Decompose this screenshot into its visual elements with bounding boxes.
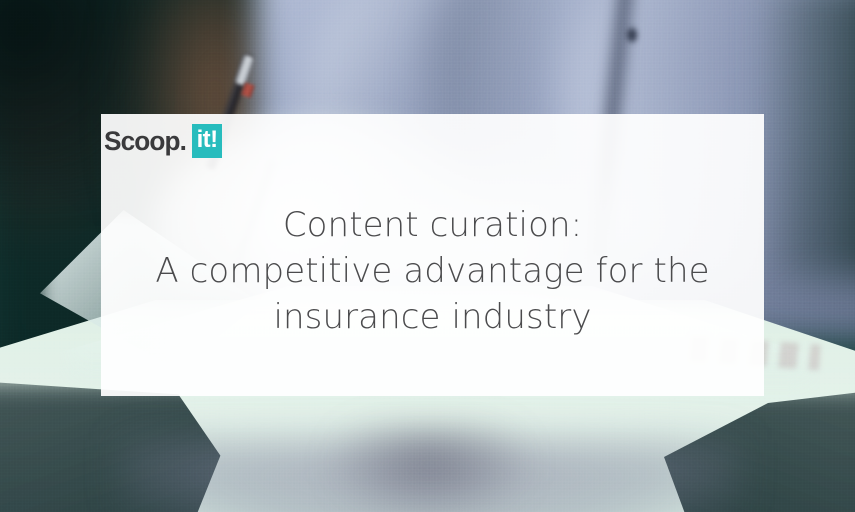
right-dark-layer xyxy=(770,0,855,280)
headline-line-2: A competitive advantage for the xyxy=(101,248,764,294)
banner-headline: Content curation: A competitive advantag… xyxy=(101,202,764,340)
bottom-shadow-layer xyxy=(120,440,740,512)
scoopit-logo[interactable]: Scoop. it! xyxy=(101,118,222,164)
headline-line-1: Content curation: xyxy=(101,202,764,248)
logo-badge-it: it! xyxy=(192,124,223,158)
pen-silver-band-layer xyxy=(235,54,255,86)
white-overlay-card: Scoop. it! Content curation: A competiti… xyxy=(101,114,764,396)
desk-left-band-layer xyxy=(0,380,380,512)
pen-red-band-layer xyxy=(241,82,255,98)
blog-banner-image: Scoop. it! Content curation: A competiti… xyxy=(0,0,855,512)
shirt-button-layer xyxy=(627,28,637,42)
headline-line-3: insurance industry xyxy=(101,294,764,340)
bottom-center-shadow-layer xyxy=(330,425,530,512)
logo-wordmark: Scoop. xyxy=(104,128,186,155)
desk-right-band-layer xyxy=(520,385,855,512)
